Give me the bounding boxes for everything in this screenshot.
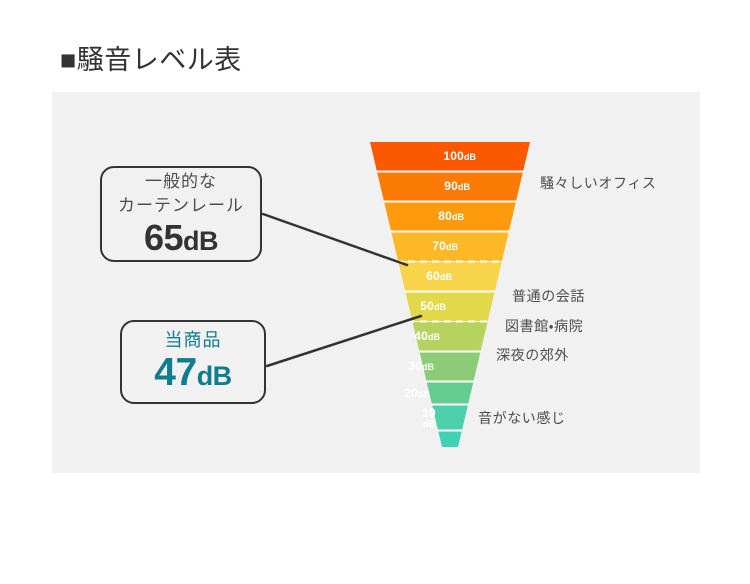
band-70db [360,232,540,261]
callout-general-curtain-rail[interactable]: 一般的な カーテンレール 65dB [100,166,262,262]
callout-standard-value: 65dB [144,218,218,261]
side-label-late-night-suburb: 深夜の郊外 [496,345,569,365]
page-title: ■騒音レベル表 [60,44,242,76]
side-label-library-hospital: 図書館・病院 [505,316,583,336]
side-label-no-sound: 音がない感じ [478,408,566,428]
band-100db [360,142,540,171]
callout-product-line1: 当商品 [165,328,222,352]
callout-product-value: 47dB [154,352,231,397]
callout-this-product[interactable]: 当商品 47dB [120,320,266,404]
noise-level-infographic: ■騒音レベル表 [0,0,750,584]
side-label-noisy-office: 騒々しいオフィス [540,173,657,193]
band-20db [360,382,540,404]
callout-standard-line1: 一般的な [145,170,217,194]
band-tip [360,431,540,457]
callout-standard-line2: カーテンレール [118,194,244,218]
band-80db [360,202,540,231]
side-label-normal-conversation: 普通の会話 [512,286,585,306]
band-90db [360,172,540,201]
